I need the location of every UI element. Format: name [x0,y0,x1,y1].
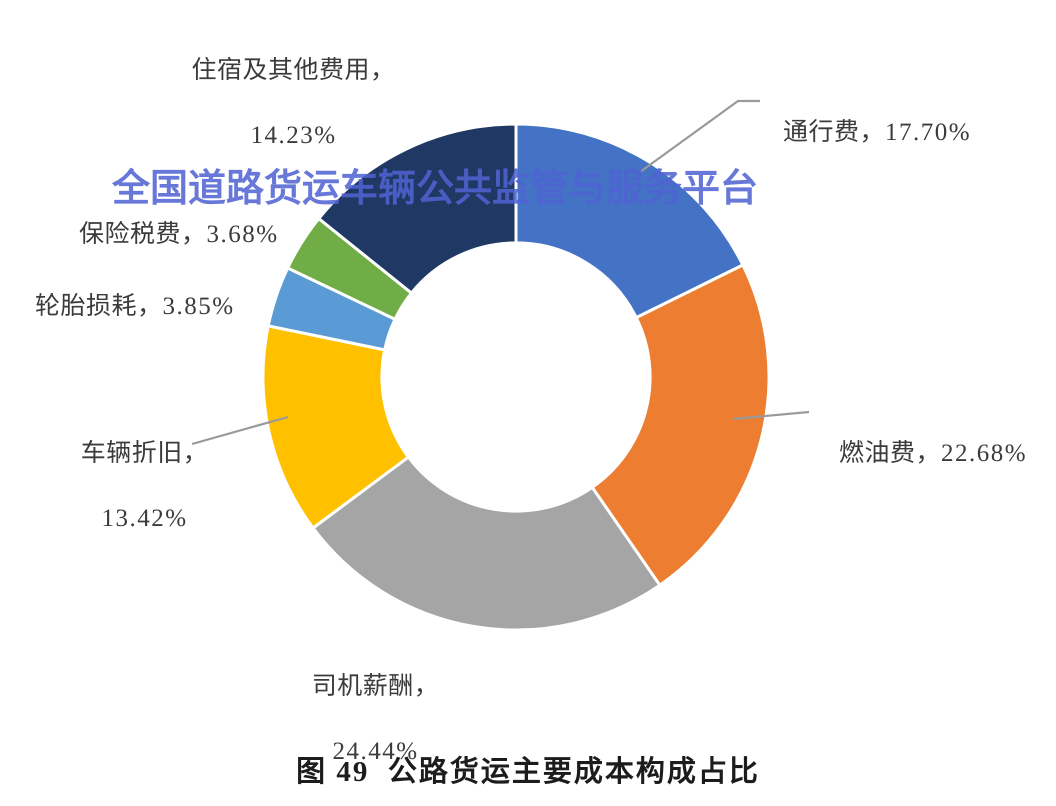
slice-label-toll: 通行费，17.70% [756,84,971,182]
donut-slices [263,124,769,630]
slice-label-fuel-name: 燃油费， [839,440,941,467]
slice-label-insurance: 保险税费，3.68% [52,186,279,284]
slice-label-tire-pct: 3.85% [163,293,235,320]
slice-label-fuel: 燃油费，22.68% [812,405,1027,503]
slice-label-tire-name: 轮胎损耗， [35,293,163,320]
slice-label-insurance-pct: 3.68% [207,221,279,248]
leader-line-toll [640,101,760,172]
chart-page: 住宿及其他费用， 14.23% 通行费，17.70% 燃油费，22.68% 司机… [0,0,1056,806]
figure-caption: 图 49 公路货运主要成本构成占比 [0,748,1056,790]
slice-label-lodging-name: 住宿及其他费用， [191,57,395,84]
slice-label-driver-name: 司机薪酬， [312,673,440,700]
slice-label-toll-name: 通行费， [783,119,885,146]
slice-label-depreciation-name: 车辆折旧， [81,440,209,467]
slice-label-depreciation: 车辆折旧， 13.42% [38,405,224,568]
slice-label-lodging: 住宿及其他费用， 14.23% [160,22,400,185]
slice-label-depreciation-pct: 13.42% [101,505,187,532]
slice-label-insurance-name: 保险税费， [79,221,207,248]
slice-label-lodging-pct: 14.23% [250,122,336,149]
slice-label-toll-pct: 17.70% [885,119,971,146]
slice-label-fuel-pct: 22.68% [941,440,1027,467]
